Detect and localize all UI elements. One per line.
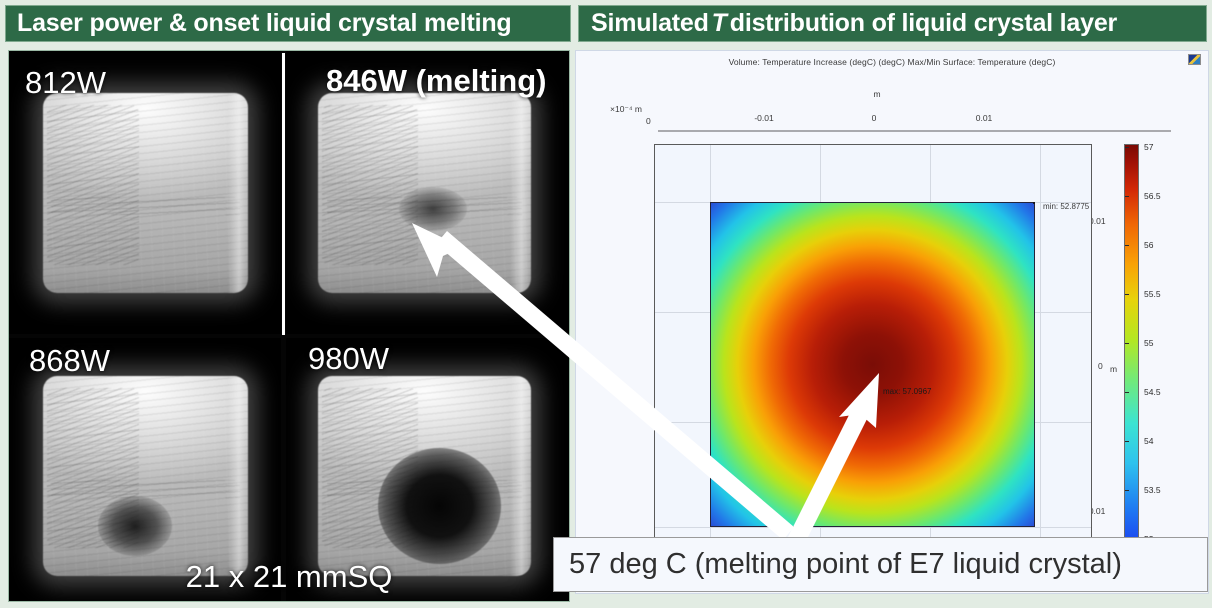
ir-sample-right-edge: [510, 93, 531, 293]
plot-frame: max: 57.0967 min: 52.8775: [654, 144, 1092, 554]
colorbar-tick: [1125, 196, 1129, 197]
ir-sample-scratches: [47, 105, 139, 265]
ir-frame-812w: 812W: [9, 51, 281, 334]
max-marker-dot: [875, 381, 877, 383]
ir-sample-980w: [318, 376, 531, 576]
right-panel-title-post: distribution of liquid crystal layer: [730, 9, 1117, 38]
ir-sample-scratches: [322, 105, 418, 265]
colorbar-tick: [1125, 441, 1129, 442]
left-panel-title-text: Laser power & onset liquid crystal melti…: [17, 9, 512, 38]
ir-sample-812w: [43, 93, 248, 293]
x-axis-exponent-zero: 0: [646, 116, 651, 126]
melt-spot: [378, 448, 502, 564]
gridline-horizontal: [655, 527, 1091, 528]
ir-sample-868w: [43, 376, 248, 576]
sample-size-label: 21 x 21 mmSQ: [9, 559, 569, 595]
gridline-vertical: [1040, 145, 1041, 553]
simulation-plot-panel: Volume: Temperature Increase (degC) (deg…: [575, 50, 1209, 594]
min-marker-dot: [1033, 202, 1035, 204]
slide: Laser power & onset liquid crystal melti…: [0, 0, 1212, 608]
colorbar-tick: [1125, 343, 1129, 344]
ir-frame-divider: [282, 53, 285, 335]
ir-label-812w: 812W: [25, 65, 106, 101]
ir-sample-right-edge: [228, 93, 249, 293]
x-axis-exponent-rule: [658, 130, 1171, 132]
caption-box: 57 deg C (melting point of E7 liquid cry…: [553, 537, 1208, 592]
simulation-plot-header: Volume: Temperature Increase (degC) (deg…: [576, 57, 1208, 67]
ir-label-980w: 980W: [308, 341, 389, 377]
ir-sample-band: [51, 197, 240, 215]
colorbar-tick: [1125, 245, 1129, 246]
colorbar-tick: [1125, 294, 1129, 295]
x-tick-label-1: 0: [872, 113, 877, 123]
temperature-colorbar: [1124, 144, 1139, 588]
colorbar-tick: [1125, 392, 1129, 393]
right-panel-title-symbol: T: [709, 9, 730, 38]
comsol-logo-icon: [1188, 54, 1201, 65]
ir-sample-band: [51, 480, 240, 498]
x-tick-label-2: 0.01: [976, 113, 993, 123]
colorbar-tick-label-55-5: 55.5: [1144, 289, 1161, 299]
melt-spot: [399, 187, 467, 231]
right-panel-title-pre: Simulated: [591, 9, 709, 38]
temperature-heatmap: max: 57.0967: [710, 202, 1035, 527]
ir-sample-846w: [318, 93, 531, 293]
x-axis-unit-label: m: [576, 89, 1178, 99]
ir-label-846w: 846W (melting): [326, 63, 546, 99]
y-tick-label-1: 0: [1098, 361, 1103, 371]
colorbar-tick: [1125, 147, 1129, 148]
experiment-image-panel: 812W 846W (melting) 868W: [8, 50, 570, 602]
max-annotation-label: max: 57.0967: [883, 387, 931, 396]
colorbar-tick-label-56: 56: [1144, 240, 1153, 250]
melt-spot: [98, 496, 172, 556]
colorbar-tick: [1125, 490, 1129, 491]
colorbar-tick-label-53-5: 53.5: [1144, 485, 1161, 495]
ir-sample-right-edge: [228, 376, 249, 576]
colorbar-tick-label-57: 57: [1144, 142, 1153, 152]
min-annotation-label: min: 52.8775: [1043, 202, 1089, 211]
colorbar-tick-label-55: 55: [1144, 338, 1153, 348]
heatmap-corner-shading: [711, 203, 1034, 526]
right-panel-title: Simulated T distribution of liquid cryst…: [578, 5, 1207, 42]
ir-label-868w: 868W: [29, 343, 110, 379]
x-tick-label-0: -0.01: [754, 113, 773, 123]
caption-text: 57 deg C (melting point of E7 liquid cry…: [569, 548, 1122, 581]
ir-frame-846w: 846W (melting): [286, 51, 570, 334]
x-axis-exponent-label: ×10⁻⁴ m: [610, 104, 642, 115]
y-axis-unit-label: m: [1110, 364, 1117, 374]
left-panel-title: Laser power & onset liquid crystal melti…: [5, 5, 571, 42]
colorbar-tick-label-54-5: 54.5: [1144, 387, 1161, 397]
colorbar-tick-label-54: 54: [1144, 436, 1153, 446]
ir-sample-right-edge: [510, 376, 531, 576]
colorbar-tick-label-56-5: 56.5: [1144, 191, 1161, 201]
